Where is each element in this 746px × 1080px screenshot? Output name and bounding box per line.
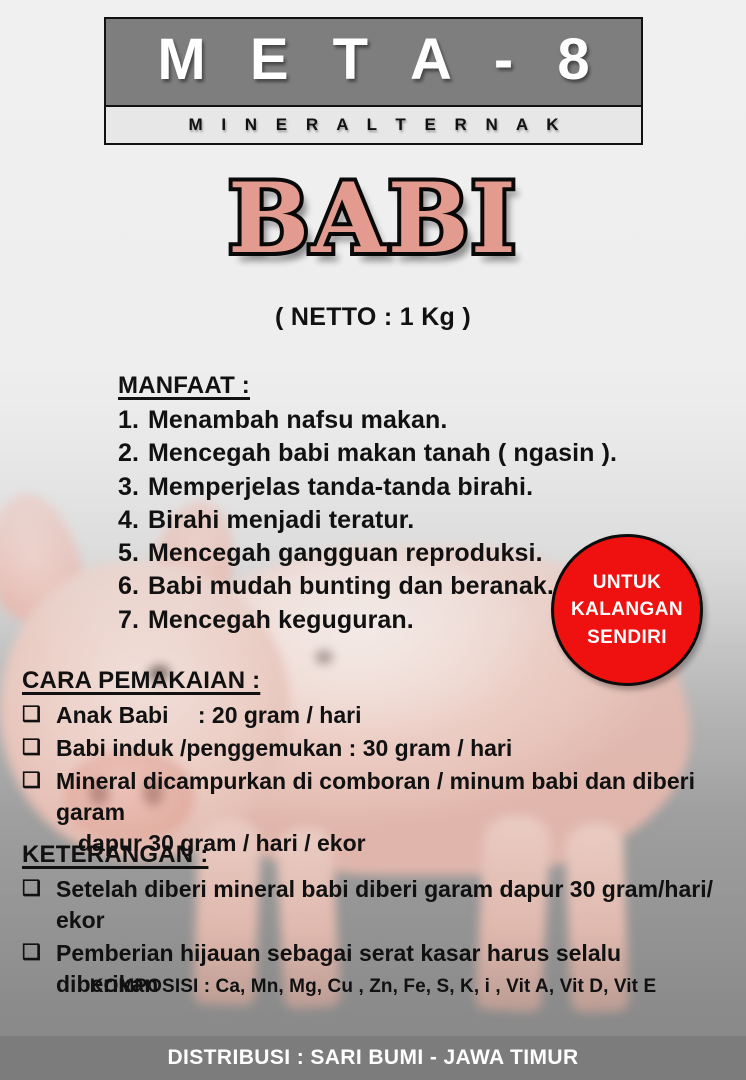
brand-header-block: M E T A - 8 M I N E R A L T E R N A K <box>104 17 643 145</box>
brand-tagline: M I N E R A L T E R N A K <box>106 116 641 133</box>
benefits-section: MANFAAT : 1. Menambah nafsu makan. 2. Me… <box>118 371 618 637</box>
list-number: 7. <box>118 604 148 637</box>
list-item: ❑ Babi induk /penggemukan : 30 gram / ha… <box>22 733 722 764</box>
list-text: Babi mudah bunting dan beranak. <box>148 570 554 603</box>
list-item: 2. Mencegah babi makan tanah ( ngasin ). <box>118 437 618 470</box>
usage-section: CARA PEMAKAIAN : ❑ Anak Babi : 20 gram /… <box>22 666 722 859</box>
list-item: ❑ Anak Babi : 20 gram / hari <box>22 700 722 731</box>
list-text: Mencegah keguguran. <box>148 604 414 637</box>
list-text-wrap: Anak Babi : 20 gram / hari <box>56 700 722 731</box>
square-bullet-icon: ❑ <box>22 700 56 730</box>
notes-heading: KETERANGAN : <box>22 840 726 870</box>
product-netto: ( NETTO : 1 Kg ) <box>0 303 746 332</box>
list-item: 1. Menambah nafsu makan. <box>118 404 618 437</box>
square-bullet-icon: ❑ <box>22 766 56 796</box>
list-text: Mencegah babi makan tanah ( ngasin ). <box>148 437 617 470</box>
list-number: 1. <box>118 404 148 437</box>
product-name-wrap: BABI <box>0 171 746 267</box>
label-content: M E T A - 8 M I N E R A L T E R N A K BA… <box>0 0 746 1080</box>
usage-list: ❑ Anak Babi : 20 gram / hari ❑ Babi indu… <box>22 700 722 859</box>
brand-tagline-bar: M I N E R A L T E R N A K <box>106 107 641 143</box>
list-text: Birahi menjadi teratur. <box>148 504 414 537</box>
list-text: Menambah nafsu makan. <box>148 404 447 437</box>
brand-name: M E T A - 8 <box>106 31 641 89</box>
benefits-heading: MANFAAT : <box>118 371 618 401</box>
list-text: Anak Babi : 20 gram / hari <box>56 702 361 728</box>
distributor-footer: DISTRIBUSI : SARI BUMI - JAWA TIMUR <box>0 1036 746 1080</box>
list-number: 2. <box>118 437 148 470</box>
list-number: 3. <box>118 471 148 504</box>
seal-line-1: UNTUK <box>593 569 662 597</box>
seal-line-2: KALANGAN <box>571 596 683 624</box>
list-text: Babi induk /penggemukan : 30 gram / hari <box>56 735 512 761</box>
list-text: Setelah diberi mineral babi diberi garam… <box>56 876 713 933</box>
square-bullet-icon: ❑ <box>22 874 56 904</box>
list-number: 6. <box>118 570 148 603</box>
seal-line-3: SENDIRI <box>587 624 667 652</box>
list-number: 4. <box>118 504 148 537</box>
list-item: ❑ Setelah diberi mineral babi diberi gar… <box>22 874 726 936</box>
distributor-text: DISTRIBUSI : SARI BUMI - JAWA TIMUR <box>167 1046 578 1070</box>
composition-line: KOMPOSISI : Ca, Mn, Mg, Cu , Zn, Fe, S, … <box>0 976 746 998</box>
list-item: 6. Babi mudah bunting dan beranak. <box>118 570 618 603</box>
list-text-wrap: Setelah diberi mineral babi diberi garam… <box>56 874 726 936</box>
benefits-list: 1. Menambah nafsu makan. 2. Mencegah bab… <box>118 404 618 637</box>
list-text-wrap: Babi induk /penggemukan : 30 gram / hari <box>56 733 722 764</box>
list-text: Mineral dicampurkan di comboran / minum … <box>56 768 695 825</box>
square-bullet-icon: ❑ <box>22 733 56 763</box>
list-item: 4. Birahi menjadi teratur. <box>118 504 618 537</box>
brand-name-bar: M E T A - 8 <box>106 19 641 107</box>
status-badge: UNTUK KALANGAN SENDIRI <box>551 534 703 686</box>
square-bullet-icon: ❑ <box>22 938 56 968</box>
list-item: 3. Memperjelas tanda-tanda birahi. <box>118 471 618 504</box>
list-text: Memperjelas tanda-tanda birahi. <box>148 471 533 504</box>
product-name: BABI <box>228 162 518 275</box>
usage-heading: CARA PEMAKAIAN : <box>22 666 722 696</box>
list-item: 7. Mencegah keguguran. <box>118 604 618 637</box>
list-item: 5. Mencegah gangguan reproduksi. <box>118 537 618 570</box>
product-label-page: M E T A - 8 M I N E R A L T E R N A K BA… <box>0 0 746 1080</box>
list-text: Mencegah gangguan reproduksi. <box>148 537 543 570</box>
list-number: 5. <box>118 537 148 570</box>
